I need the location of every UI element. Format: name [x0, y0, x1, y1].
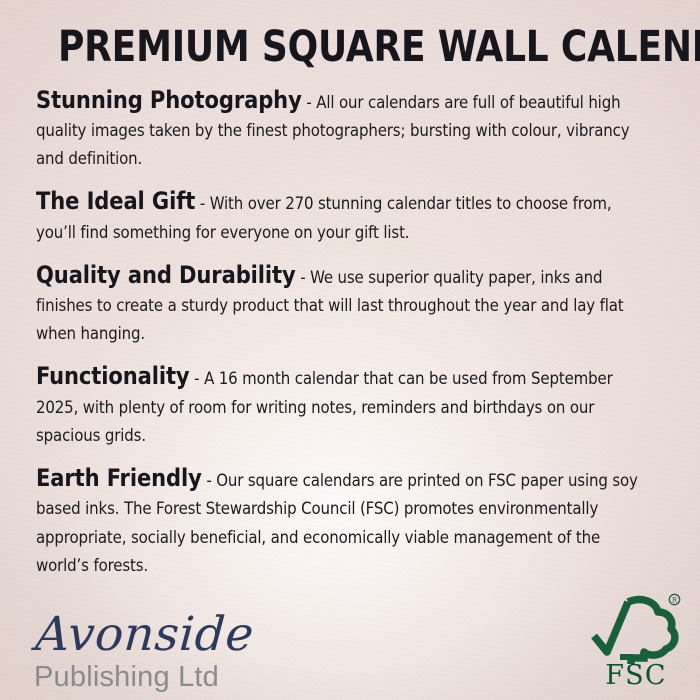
- feature-dash: -: [202, 471, 217, 491]
- feature-dash: -: [296, 268, 311, 288]
- feature-heading: Quality and Durability: [36, 261, 296, 289]
- feature-heading: Functionality: [36, 362, 190, 390]
- feature-heading: Earth Friendly: [36, 464, 202, 492]
- page-title: PREMIUM SQUARE WALL CALENDARS: [58, 0, 642, 70]
- feature-section-the-ideal-gift: The Ideal Gift - With over 270 stunning …: [36, 187, 648, 246]
- poster-canvas: PREMIUM SQUARE WALL CALENDARS Stunning P…: [0, 0, 700, 700]
- feature-section-stunning-photography: Stunning Photography - All our calendars…: [36, 86, 648, 174]
- brand-subtitle: Publishing Ltd: [34, 662, 252, 692]
- feature-section-functionality: Functionality - A 16 month calendar that…: [36, 362, 648, 450]
- feature-dash: -: [195, 194, 210, 214]
- feature-section-earth-friendly: Earth Friendly - Our square calendars ar…: [36, 464, 648, 580]
- feature-dash: -: [302, 93, 317, 113]
- feature-list: Stunning Photography - All our calendars…: [36, 86, 664, 580]
- fsc-certification-logo: R FSC: [590, 592, 682, 688]
- fsc-wordmark: FSC: [605, 660, 667, 688]
- brand-name: Avonside: [34, 611, 256, 658]
- fsc-tree-checkmark-icon: R FSC: [590, 592, 682, 688]
- feature-heading: The Ideal Gift: [36, 187, 195, 215]
- svg-text:R: R: [672, 596, 678, 604]
- poster-footer: Avonside Publishing Ltd: [0, 582, 700, 700]
- feature-dash: -: [190, 369, 205, 389]
- feature-section-quality-and-durability: Quality and Durability - We use superior…: [36, 261, 648, 349]
- registered-trademark-icon: R: [669, 594, 679, 604]
- feature-heading: Stunning Photography: [36, 86, 302, 114]
- brand-logo: Avonside Publishing Ltd: [34, 611, 252, 692]
